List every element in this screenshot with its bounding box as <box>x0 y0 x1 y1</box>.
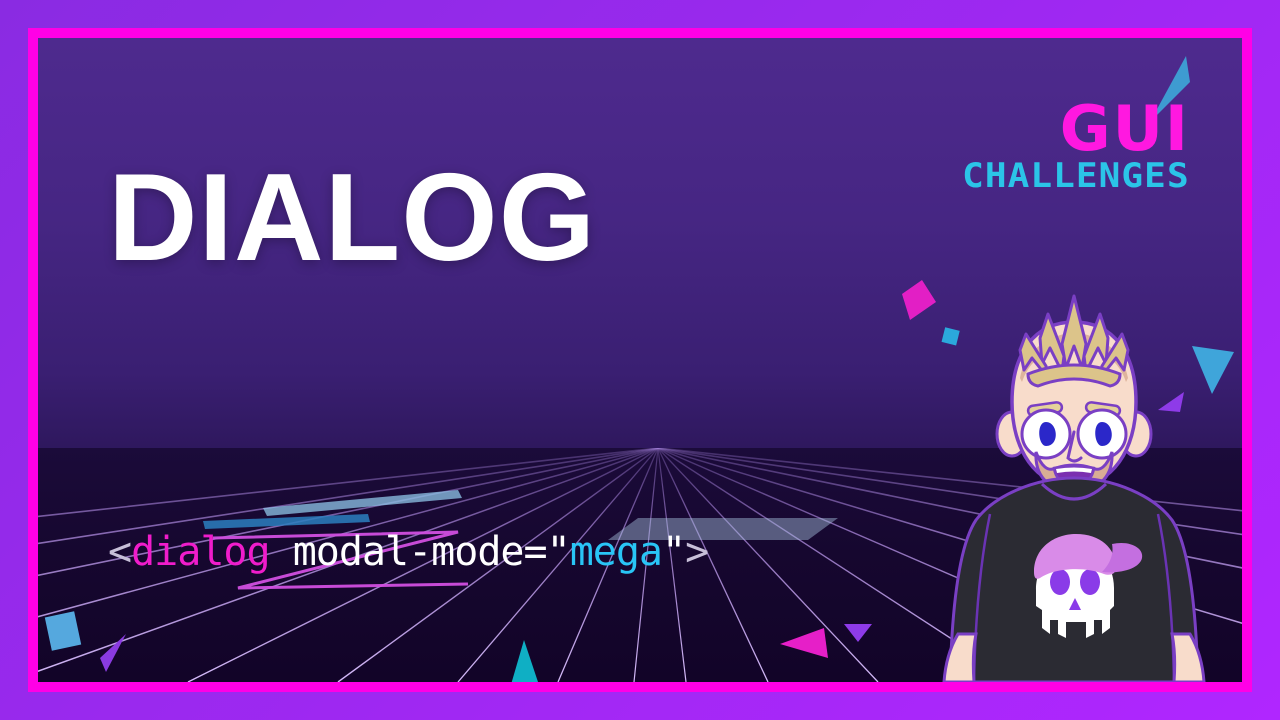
code-quote-close: " <box>662 529 685 575</box>
avatar-illustration <box>924 282 1224 682</box>
code-quote-open: " <box>547 529 570 575</box>
logo-line-challenges: CHALLENGES <box>962 159 1190 195</box>
magenta-arrow-bottom-icon <box>776 624 836 664</box>
code-close-angle: > <box>685 529 708 575</box>
code-space <box>270 529 293 575</box>
avatar-eye-left <box>1022 410 1070 458</box>
code-sample: <dialog modal-mode="mega"> <dialog modal… <box>108 410 708 682</box>
slide-stage: DIALOG <dialog modal-mode="mega"> <dialo… <box>38 38 1242 682</box>
logo-line-gui: GUI <box>975 100 1190 159</box>
code-attr-name: modal-mode= <box>293 529 547 575</box>
avatar-arm-right <box>1172 634 1204 682</box>
avatar <box>924 282 1224 682</box>
blue-square-bottom-left-icon <box>42 608 86 656</box>
avatar-eye-right <box>1078 410 1126 458</box>
purple-triangle-bottom-icon <box>842 618 876 646</box>
magenta-frame: DIALOG <dialog modal-mode="mega"> <dialo… <box>28 28 1252 692</box>
avatar-arm-left <box>944 634 976 682</box>
code-open-angle: < <box>108 529 131 575</box>
gui-challenges-logo: GUI CHALLENGES <box>975 100 1190 195</box>
code-line-mega: <dialog modal-mode="mega"> <box>108 524 708 581</box>
code-attr-value: mega <box>570 529 662 575</box>
code-tag-name: dialog <box>131 529 270 575</box>
page-title: DIALOG <box>108 156 596 280</box>
